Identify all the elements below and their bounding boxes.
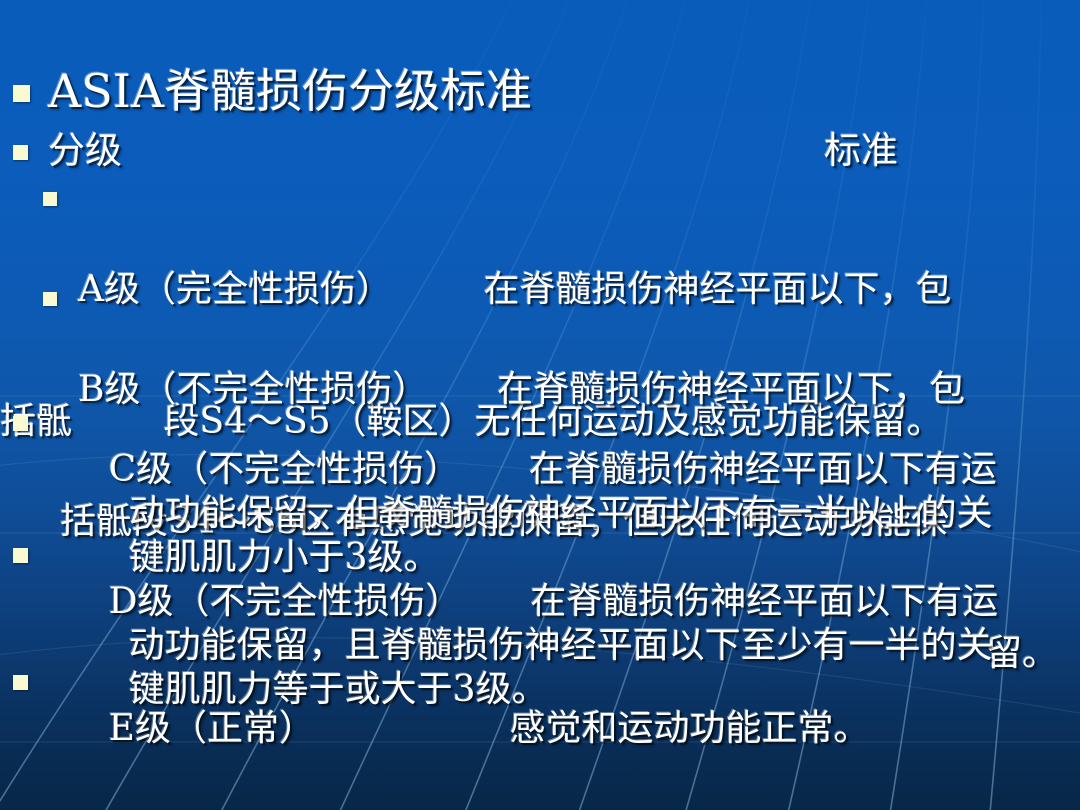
grade-row-e: E级（正常） 感觉和运动功能正常。 (0, 663, 1080, 795)
grade-c-line-1: C级（不完全性损伤） 在脊髓损伤神经平面以下有运 (69, 449, 997, 490)
presentation-slide: ASIA脊髓损伤分级标准 分级 标准 A级（完全性损伤） 在脊髓损伤神经平面以下… (0, 0, 1080, 810)
bullet-square-title (13, 85, 30, 102)
grade-d-line-1: D级（不完全性损伤） 在脊髓损伤神经平面以下有运 (69, 581, 999, 622)
bullet-square-header (13, 145, 28, 160)
column-header-standard: 标准 (824, 130, 898, 172)
slide-content: ASIA脊髓损伤分级标准 分级 标准 A级（完全性损伤） 在脊髓损伤神经平面以下… (0, 0, 1080, 810)
page-title: ASIA脊髓损伤分级标准 (48, 66, 532, 116)
grade-c-line-2: 动功能保留，但脊髓损伤神经平面以下有一半以上的关 (69, 493, 993, 534)
grade-e-line-1: E级（正常） 感觉和运动功能正常。 (69, 708, 870, 749)
column-header-grade: 分级 (48, 130, 122, 172)
grade-d-line-2: 动功能保留，且脊髓损伤神经平面以下至少有一半的关 (69, 625, 993, 666)
